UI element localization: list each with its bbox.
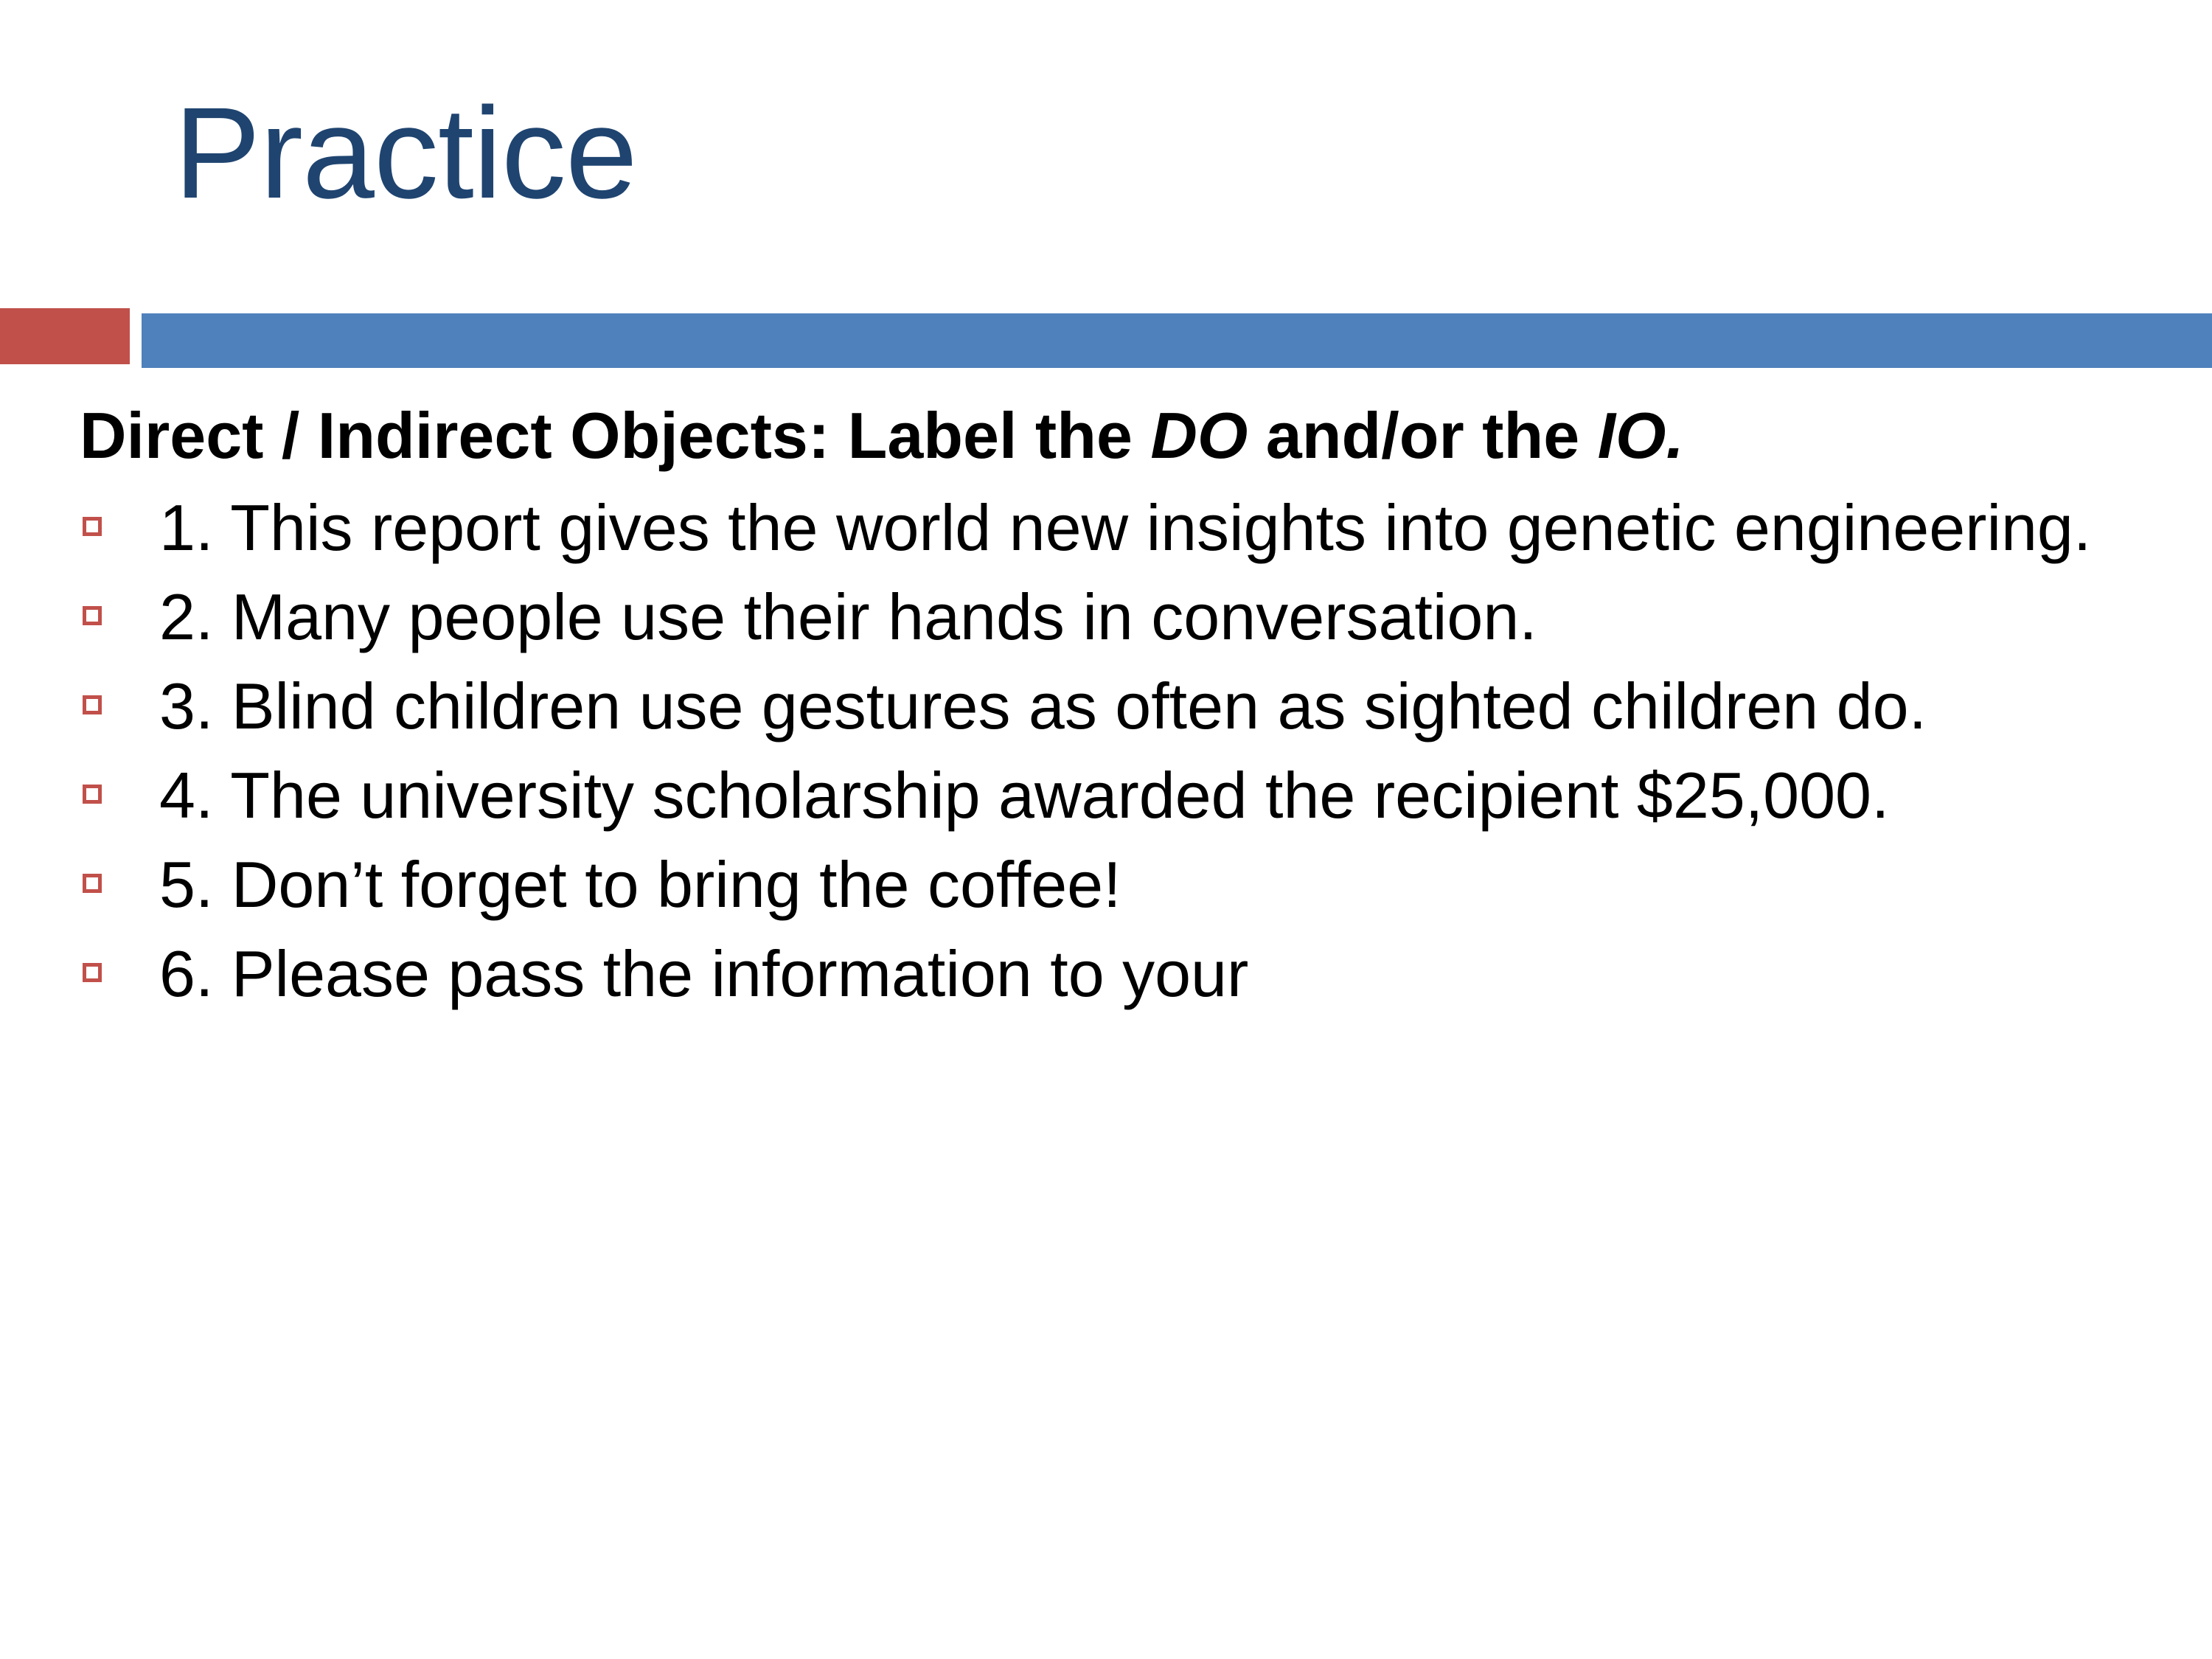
square-bullet-icon bbox=[83, 874, 102, 893]
list-item: 5. Don’t forget to bring the coffee! bbox=[0, 847, 2124, 923]
list-item: 2. Many people use their hands in conver… bbox=[0, 580, 2124, 655]
slide-canvas: Practice Direct / Indirect Objects: Labe… bbox=[0, 0, 2212, 1659]
list-item-label: 6. Please pass the information to your bbox=[159, 936, 2124, 1012]
square-bullet-icon bbox=[83, 517, 102, 536]
list-item: 3. Blind children use gestures as often … bbox=[0, 669, 2124, 745]
list-item: 6. Please pass the information to your bbox=[0, 936, 2124, 1012]
square-bullet-icon bbox=[83, 606, 102, 625]
instructions-heading: Direct / Indirect Objects: Label the DO … bbox=[0, 398, 2035, 474]
instructions-part-1: Direct / Indirect Objects: Label the bbox=[80, 399, 1150, 472]
accent-bar-red bbox=[0, 308, 130, 364]
list-item: 1. This report gives the world new insig… bbox=[0, 490, 2124, 566]
instructions-do-abbrev: DO bbox=[1150, 399, 1248, 472]
list-item-label: 3. Blind children use gestures as often … bbox=[159, 669, 2124, 745]
list-item-label: 4. The university scholarship awarded th… bbox=[159, 758, 2124, 834]
square-bullet-icon bbox=[83, 963, 102, 982]
practice-sentence-list: 1. This report gives the world new insig… bbox=[0, 490, 2212, 1012]
square-bullet-icon bbox=[83, 785, 102, 804]
title-placeholder: Practice bbox=[174, 88, 2091, 258]
instructions-io-abbrev: IO. bbox=[1598, 399, 1684, 472]
list-item-label: 1. This report gives the world new insig… bbox=[159, 490, 2124, 566]
page-title: Practice bbox=[174, 88, 2091, 218]
accent-bar-blue bbox=[142, 313, 2212, 368]
content-placeholder: Direct / Indirect Objects: Label the DO … bbox=[0, 398, 2212, 1659]
list-item: 4. The university scholarship awarded th… bbox=[0, 758, 2124, 834]
square-bullet-icon bbox=[83, 695, 102, 714]
list-item-label: 2. Many people use their hands in conver… bbox=[159, 580, 2124, 655]
list-item-label: 5. Don’t forget to bring the coffee! bbox=[159, 847, 2124, 923]
instructions-part-2: and/or the bbox=[1248, 399, 1597, 472]
